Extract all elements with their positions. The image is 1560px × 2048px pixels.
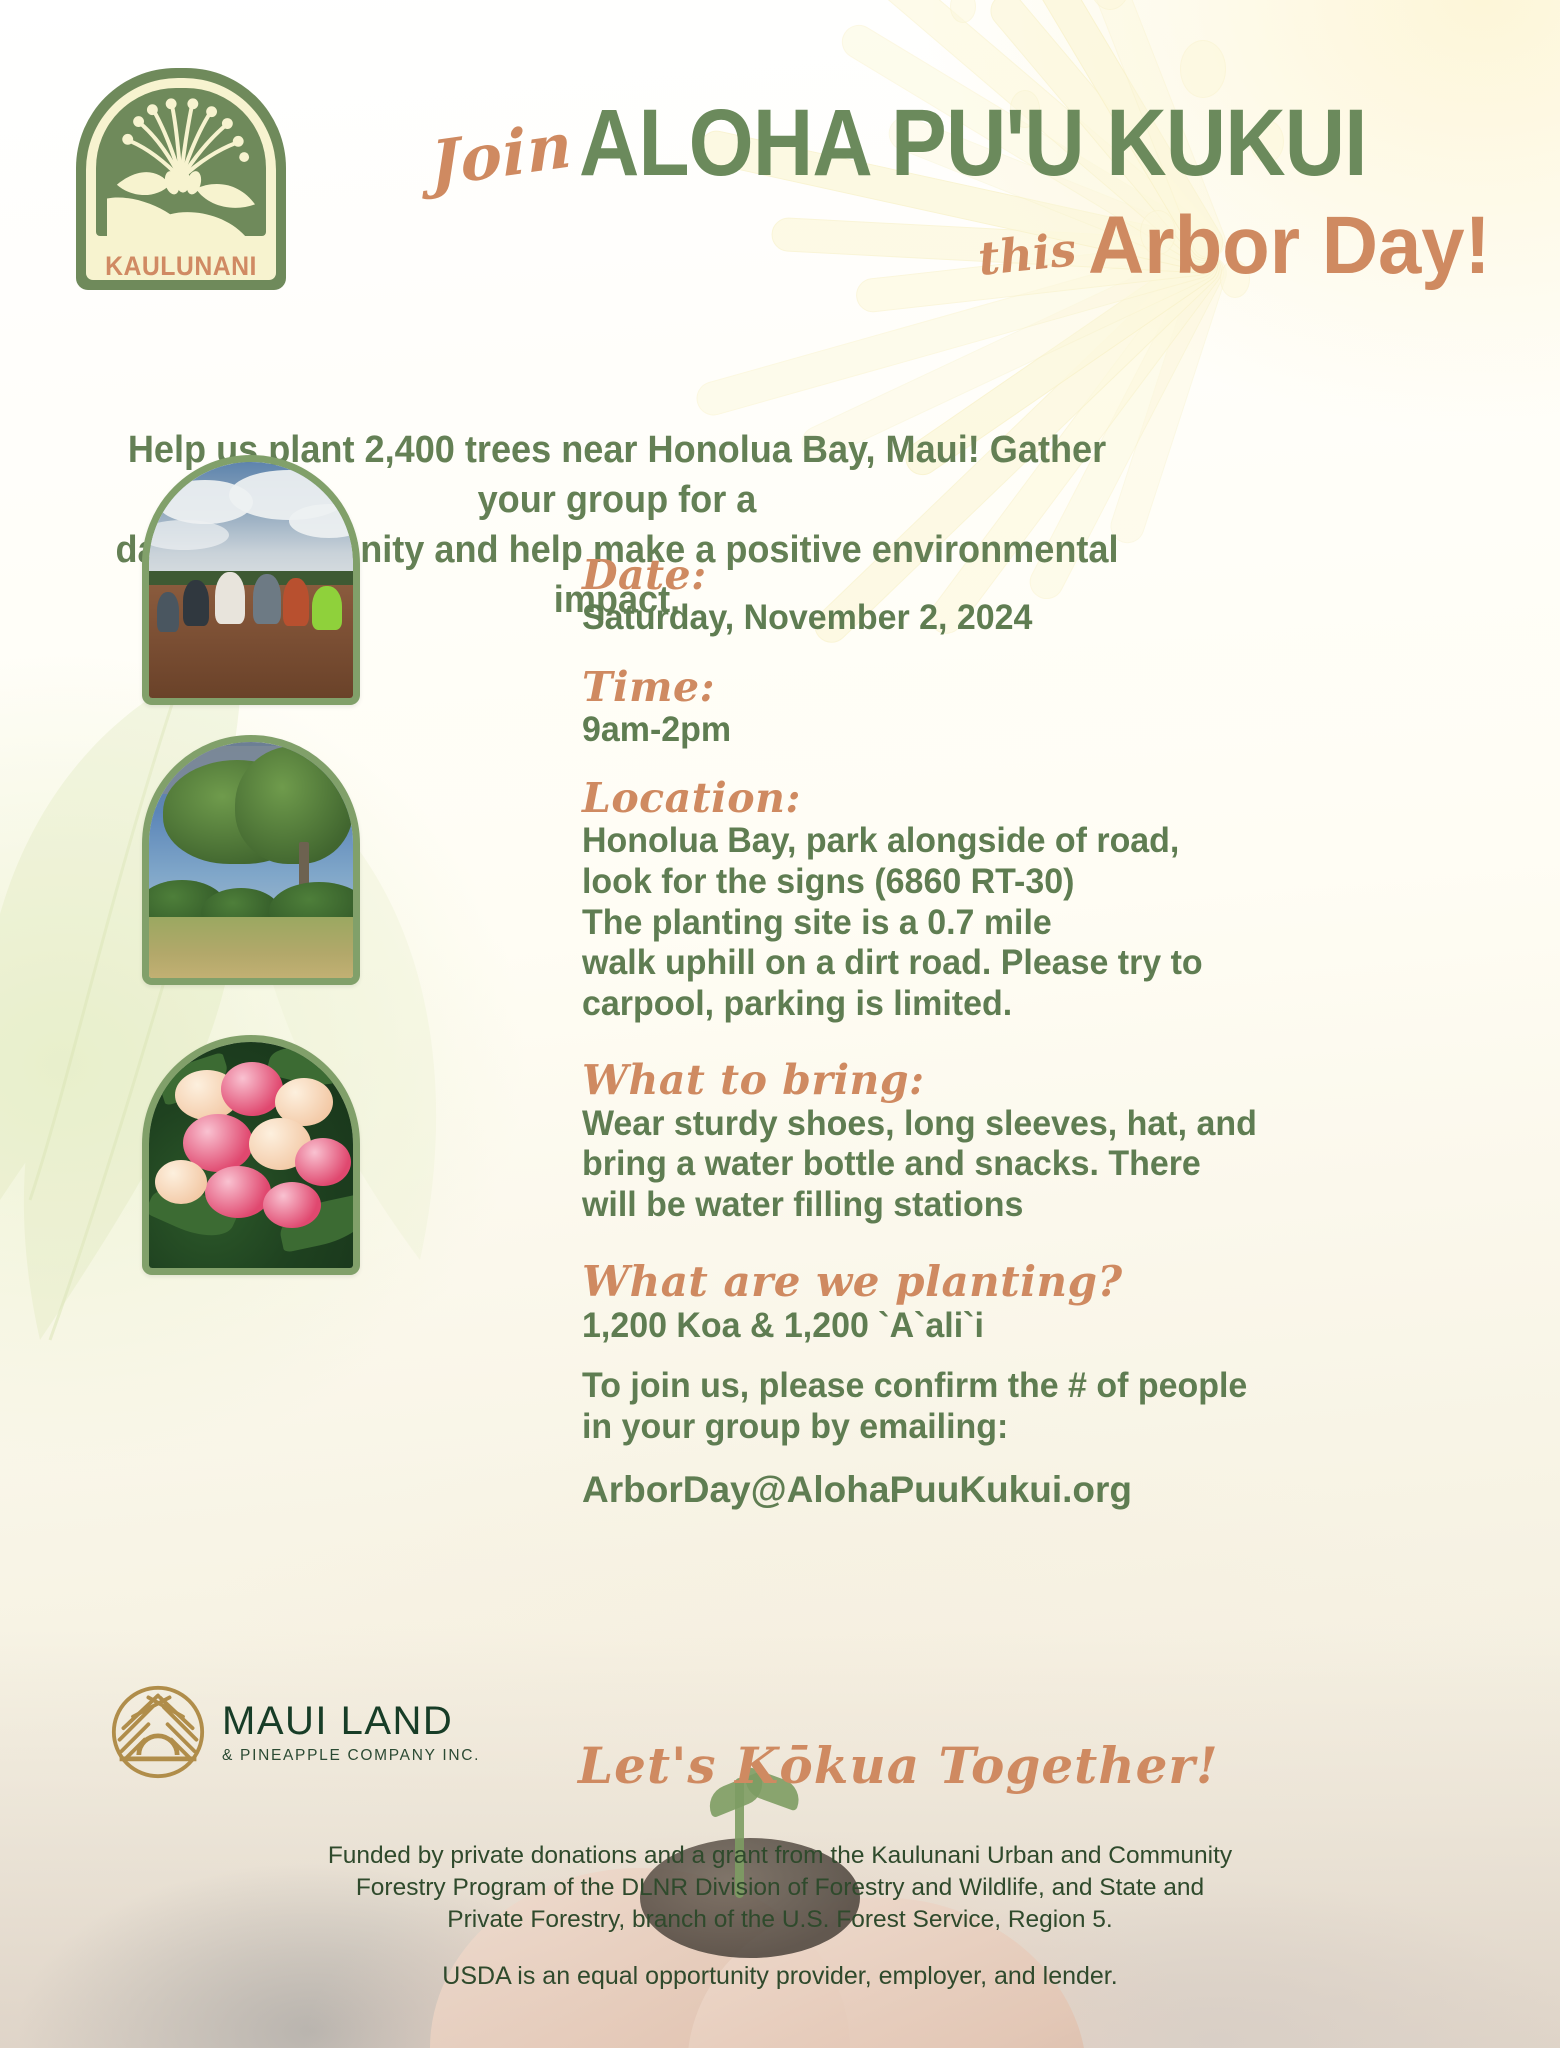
footer-line-1: Funded by private donations and a grant … [120,1840,1440,1872]
bring-line-3: will be water filling stations [582,1185,1397,1226]
maui-land-wordmark: MAUI LAND & PINEAPPLE COMPANY INC. [222,1701,480,1764]
maui-land-name: MAUI LAND [222,1701,480,1741]
rsvp-line-1: To join us, please confirm the # of peop… [582,1366,1397,1407]
detail-what-planting: What are we planting? 1,200 Koa & 1,200 … [582,1259,1422,1346]
event-details: Date: Saturday, November 2, 2024 Time: 9… [582,553,1422,1537]
location-line-4: walk uphill on a dirt road. Please try t… [582,943,1397,984]
rsvp-email-link[interactable]: ArborDay@AlohaPuuKukui.org [582,1469,1422,1511]
headline-join-word: Join [429,108,573,201]
headline: Join ALOHA PU'U KUKUI this Arbor Day! [430,96,1520,287]
location-line-3: The planting site is a 0.7 mile [582,903,1397,944]
time-label: Time: [582,665,1422,710]
planting-label: What are we planting? [582,1259,1422,1305]
location-line-5: carpool, parking is limited. [582,984,1397,1025]
bring-line-2: bring a water bottle and snacks. There [582,1144,1397,1185]
kaulunani-logo: KAULUNANI [76,68,286,290]
ohia-lehua-blossom-in-hand-icon [96,88,266,236]
date-value: Saturday, November 2, 2024 [582,598,1397,639]
planting-value: 1,200 Koa & 1,200 `A`ali`i [582,1306,1397,1347]
bring-line-1: Wear sturdy shoes, long sleeves, hat, an… [582,1104,1397,1145]
detail-time: Time: 9am-2pm [582,665,1422,751]
usda-statement: USDA is an equal opportunity provider, e… [120,1962,1440,1991]
detail-what-to-bring: What to bring: Wear sturdy shoes, long s… [582,1058,1422,1225]
bring-label: What to bring: [582,1058,1422,1103]
location-label: Location: [582,776,1422,821]
flyer-poster: KAULUNANI Join ALOHA PU'U KUKUI this Arb… [0,0,1560,2048]
detail-location: Location: Honolua Bay, park alongside of… [582,776,1422,1024]
funding-disclaimer: Funded by private donations and a grant … [120,1840,1440,1936]
maui-land-subtitle: & PINEAPPLE COMPANY INC. [222,1748,480,1764]
koa-tree-photo [142,735,360,985]
ray-dot [1090,0,1130,10]
maui-land-logo: MAUI LAND & PINEAPPLE COMPANY INC. [110,1672,510,1792]
location-line-1: Honolua Bay, park alongside of road, [582,821,1397,862]
page-title: ALOHA PU'U KUKUI [579,96,1367,191]
ray-dot [1180,40,1226,98]
closing-message: Let's Kōkua Together! [578,1736,1219,1795]
rsvp-line-2: in your group by emailing: [582,1407,1397,1448]
time-value: 9am-2pm [582,710,1397,751]
headline-this-word: this [976,222,1079,286]
location-line-2: look for the signs (6860 RT-30) [582,862,1397,903]
maui-land-sun-emblem-icon [110,1684,206,1780]
aalii-flowers-photo [142,1035,360,1275]
detail-date: Date: Saturday, November 2, 2024 [582,553,1422,639]
kaulunani-logo-text: KAULUNANI [84,251,277,282]
volunteers-planting-photo [142,455,360,705]
footer-line-2: Forestry Program of the DLNR Division of… [120,1872,1440,1904]
footer-line-3: Private Forestry, branch of the U.S. For… [120,1904,1440,1936]
headline-occasion: Arbor Day! [1088,205,1491,287]
ray-dot [950,0,976,23]
date-label: Date: [582,553,1422,598]
detail-rsvp: To join us, please confirm the # of peop… [582,1366,1422,1511]
